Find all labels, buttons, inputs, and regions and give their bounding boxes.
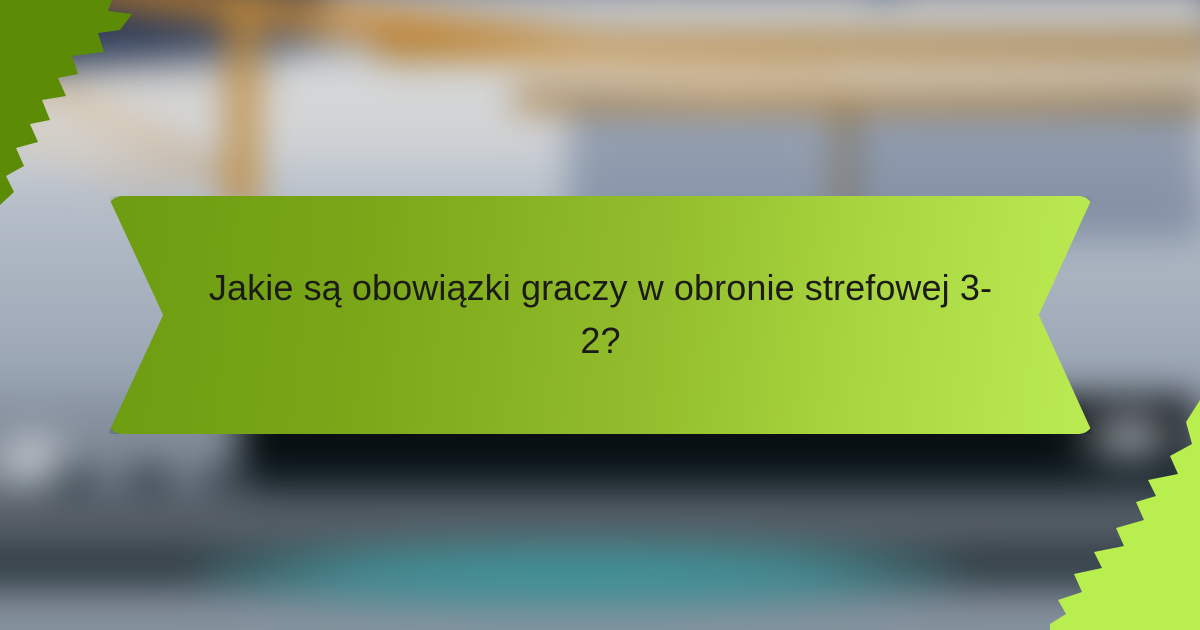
question-ribbon-banner: Jakie są obowiązki graczy w obronie stre… xyxy=(108,196,1093,434)
share-card-canvas: Jakie są obowiązki graczy w obronie stre… xyxy=(0,0,1200,630)
vertical-wood-post xyxy=(229,0,257,214)
teal-court-floor xyxy=(197,538,960,612)
horizontal-wood-beam-lower xyxy=(515,89,1200,108)
horizontal-wood-beam-upper xyxy=(377,36,1200,59)
light-glow-left xyxy=(0,426,81,490)
question-title: Jakie są obowiązki graczy w obronie stre… xyxy=(201,261,1001,369)
light-glow-right xyxy=(1066,405,1193,469)
